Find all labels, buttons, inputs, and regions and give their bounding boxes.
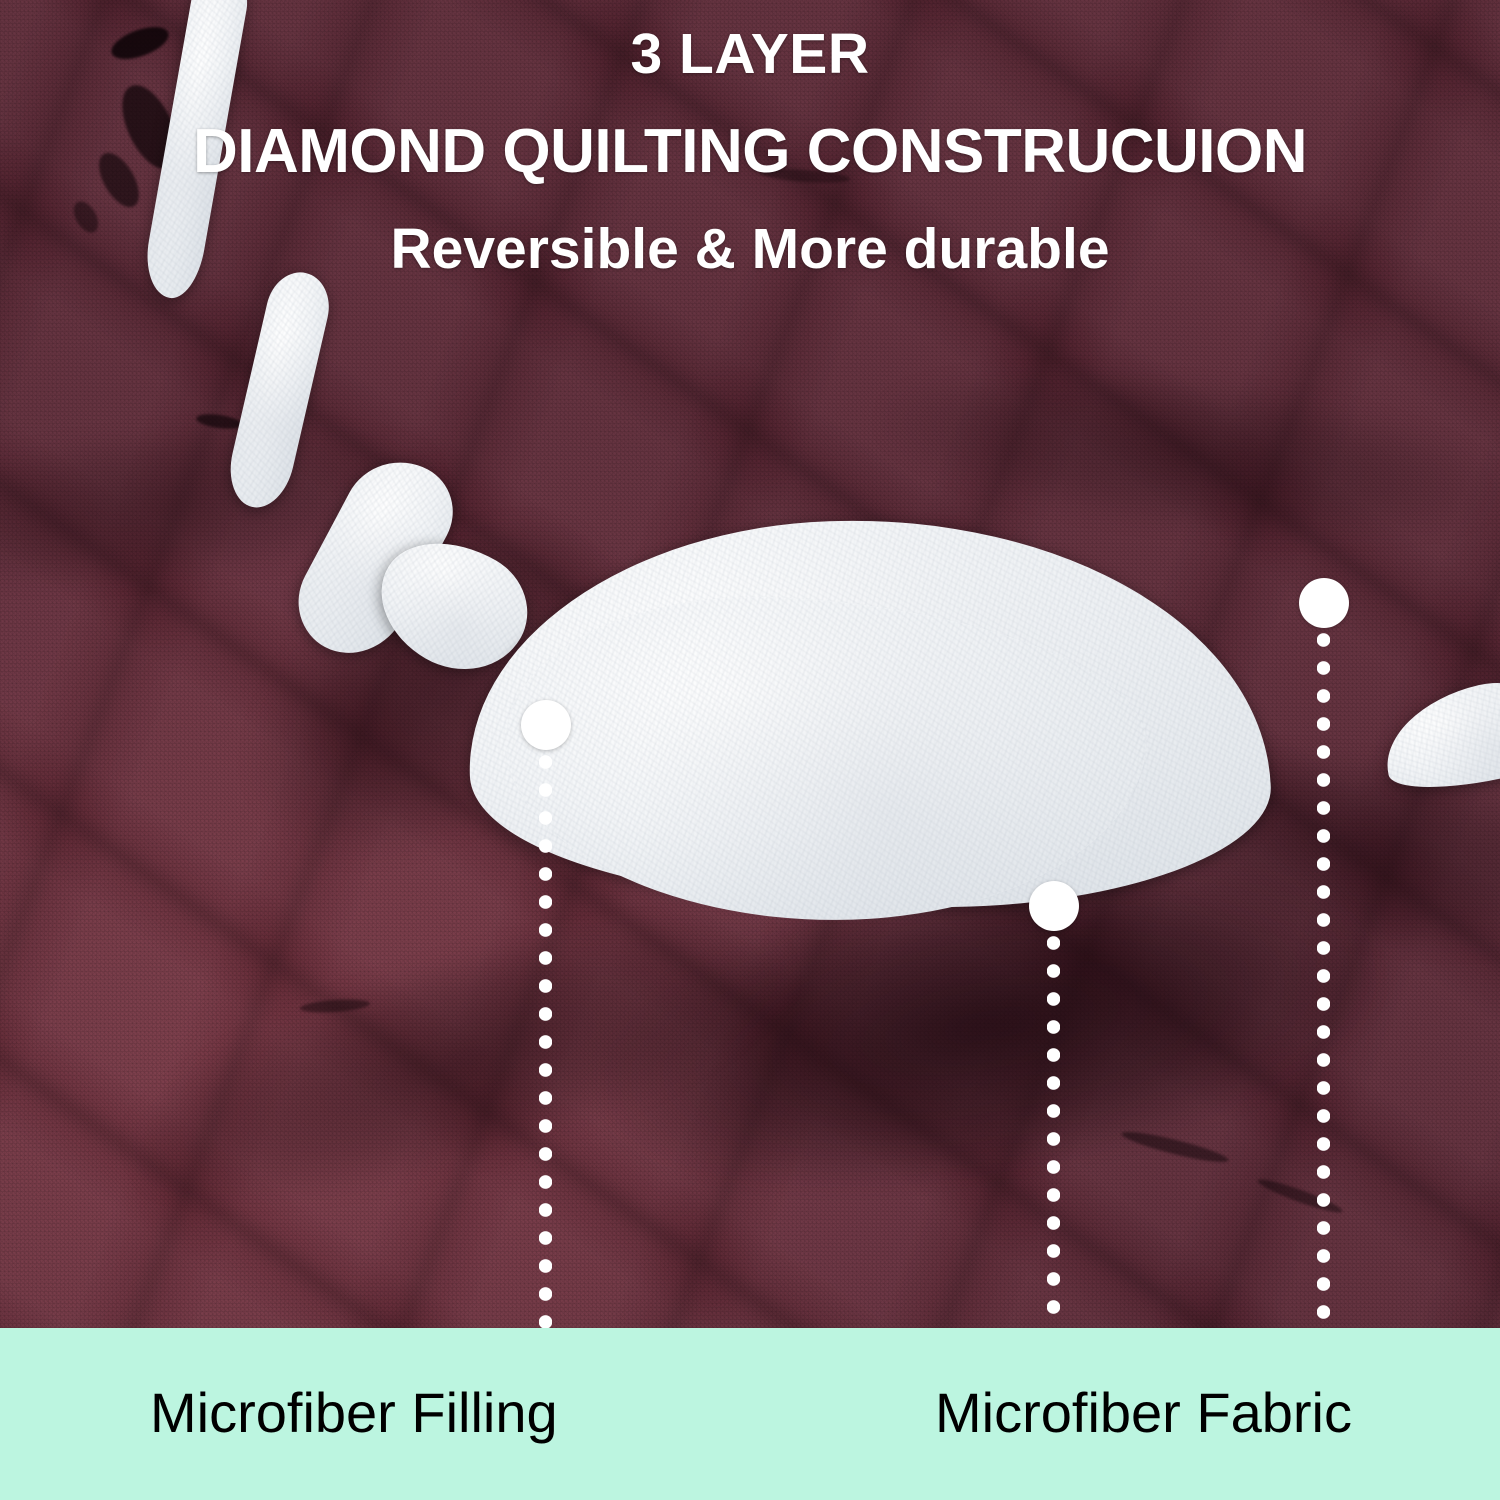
legend-bar: Microfiber Filling Microfiber Fabric xyxy=(0,1328,1500,1500)
callout-marker-microfiber-filling[interactable] xyxy=(521,700,571,750)
callout-leader-microfiber-fabric-upper xyxy=(1317,626,1330,1330)
callout-leader-microfiber-filling xyxy=(539,748,552,1330)
callout-marker-microfiber-fabric-upper[interactable] xyxy=(1299,578,1349,628)
legend-label-microfiber-fabric: Microfiber Fabric xyxy=(935,1380,1352,1445)
legend-label-microfiber-filling: Microfiber Filling xyxy=(150,1380,558,1445)
product-infographic: 3 LAYER DIAMOND QUILTING CONSTRUCUION Re… xyxy=(0,0,1500,1500)
callout-marker-microfiber-fabric-lower[interactable] xyxy=(1029,881,1079,931)
callout-leader-microfiber-fabric-lower xyxy=(1047,929,1060,1330)
